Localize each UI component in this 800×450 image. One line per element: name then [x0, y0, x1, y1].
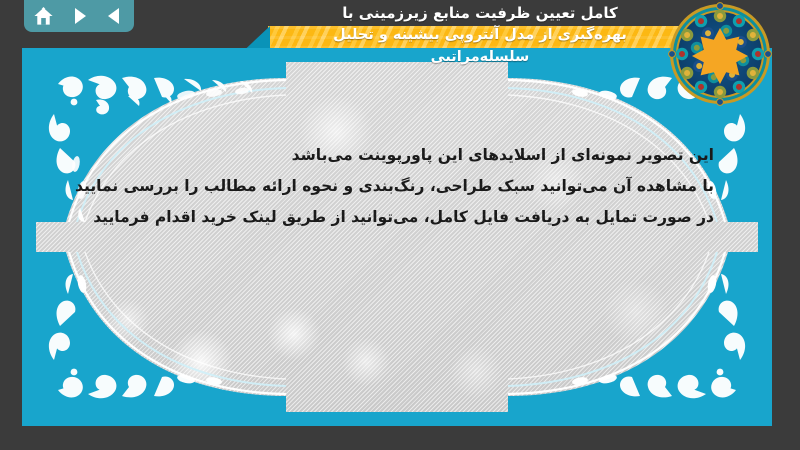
body-line-2: با مشاهده آن می‌توانید سبک طراحی، رنگ‌بن… — [66, 171, 714, 202]
slide-frame: این تصویر نمونه‌ای از اسلایدهای این پاور… — [22, 48, 772, 426]
ornament-corner-bottom-left — [36, 252, 286, 412]
persian-medallion-icon — [668, 2, 772, 106]
forward-button[interactable] — [68, 5, 90, 27]
back-button[interactable] — [104, 5, 126, 27]
slide-canvas: این تصویر نمونه‌ای از اسلایدهای این پاور… — [36, 62, 758, 412]
triangle-left-icon — [105, 6, 125, 26]
body-line-1: این تصویر نمونه‌ای از اسلایدهای این پاور… — [66, 140, 714, 171]
triangle-right-icon — [69, 6, 89, 26]
slide-preview-window: کامل تعیین ظرفیت منابع زیرزمینی با بهره‌… — [0, 0, 800, 450]
home-icon — [33, 6, 54, 27]
navigation-toolbar[interactable] — [24, 0, 134, 32]
ornament-corner-bottom-right — [508, 252, 758, 412]
slide-body-text: این تصویر نمونه‌ای از اسلایدهای این پاور… — [66, 140, 714, 233]
home-button[interactable] — [32, 5, 54, 27]
body-line-3: در صورت تمایل به دریافت فایل کامل، می‌تو… — [66, 202, 714, 233]
